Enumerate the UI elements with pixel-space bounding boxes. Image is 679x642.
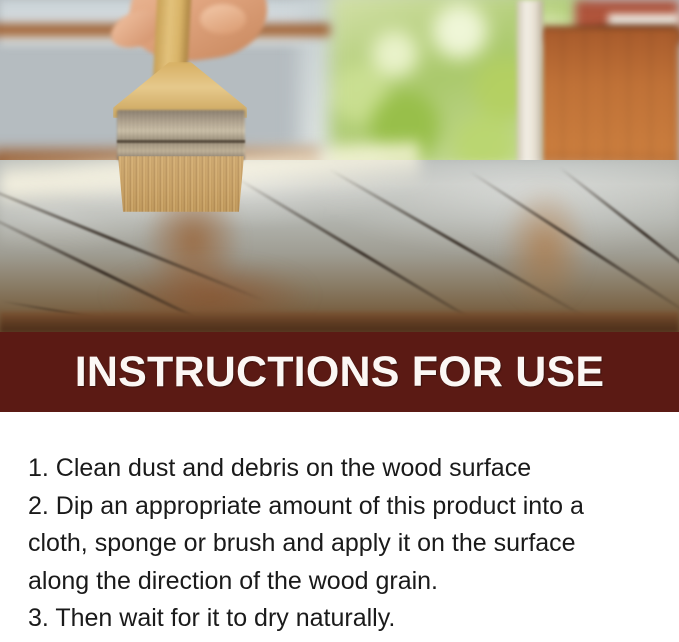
brush-ferrule-crimp-line	[117, 140, 245, 143]
banner-title: INSTRUCTIONS FOR USE	[75, 351, 605, 394]
product-instructions-infographic: INSTRUCTIONS FOR USE 1. Clean dust and d…	[0, 0, 679, 642]
instruction-line: along the direction of the wood grain.	[28, 563, 657, 601]
instructions-body: 1. Clean dust and debris on the wood sur…	[0, 412, 679, 642]
deck-front-edge	[0, 312, 679, 333]
brush-bristles	[118, 156, 244, 212]
instruction-line: cloth, sponge or brush and apply it on t…	[28, 525, 657, 563]
knuckle	[200, 4, 246, 34]
instruction-line: 3. Then wait for it to dry naturally.	[28, 600, 657, 638]
hero-photo	[0, 0, 679, 333]
instructions-banner: INSTRUCTIONS FOR USE	[0, 332, 679, 412]
brush-metal-ferrule	[117, 110, 245, 160]
instruction-line: 1. Clean dust and debris on the wood sur…	[28, 450, 657, 488]
instruction-line: 2. Dip an appropriate amount of this pro…	[28, 488, 657, 526]
